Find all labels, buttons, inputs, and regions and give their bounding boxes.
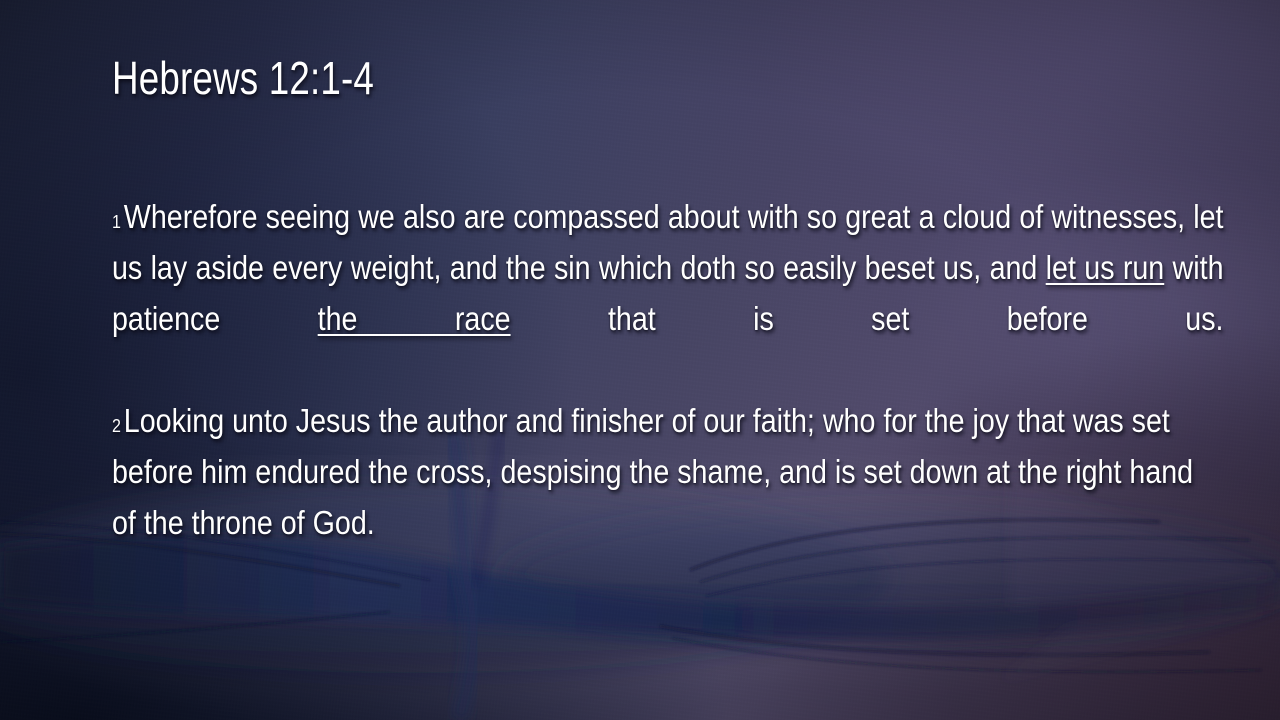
verse-1: 1Wherefore seeing we also are compassed …	[112, 192, 1224, 396]
verse-1-segment-1-underlined: let us run	[1046, 250, 1165, 287]
presentation-slide: Hebrews 12:1-4 1Wherefore seeing we also…	[0, 0, 1280, 720]
verse-1-segment-3-underlined: the race	[318, 301, 511, 338]
slide-title: Hebrews 12:1-4	[112, 54, 374, 104]
verse-number-1: 1	[112, 211, 124, 232]
slide-content: Hebrews 12:1-4 1Wherefore seeing we also…	[0, 0, 1280, 720]
verse-2-segment-0: Looking unto Jesus the author and finish…	[112, 403, 1193, 542]
scripture-body: 1Wherefore seeing we also are compassed …	[112, 192, 1224, 549]
verse-1-segment-4: that is set before us.	[511, 301, 1224, 338]
verse-number-2: 2	[112, 415, 124, 436]
verse-2: 2Looking unto Jesus the author and finis…	[112, 396, 1224, 549]
